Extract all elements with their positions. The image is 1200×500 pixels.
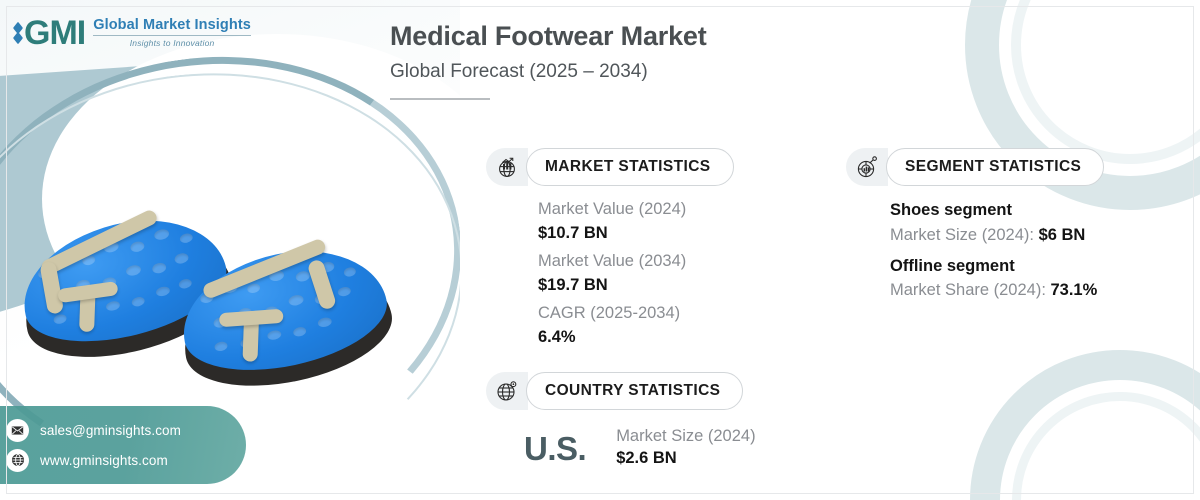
- contact-email[interactable]: sales@gminsights.com: [40, 423, 181, 438]
- country-metric-label: Market Size (2024): [616, 426, 755, 447]
- segment-metric: Market Size (2024): $6 BN: [890, 223, 1104, 248]
- country-metric-value: $2.6 BN: [616, 447, 755, 469]
- market-statistics-heading: MARKET STATISTICS: [545, 158, 711, 176]
- segment-statistics-rows: Shoes segment Market Size (2024): $6 BN …: [846, 198, 1104, 303]
- segment-statistics-label-pill: SEGMENT STATISTICS: [886, 148, 1104, 186]
- brand-name-block: Global Market Insights Insights to Innov…: [93, 18, 251, 49]
- brand-logo[interactable]: GMI Global Market Insights Insights to I…: [14, 16, 251, 50]
- segment-title: Shoes segment: [890, 198, 1104, 223]
- pie-chart-target-icon: [846, 148, 888, 186]
- stat-label: CAGR (2025-2034): [538, 302, 734, 326]
- product-photo-sandals: [8, 150, 438, 430]
- infographic-canvas: GMI Global Market Insights Insights to I…: [0, 0, 1200, 500]
- market-statistics-header: MARKET STATISTICS: [486, 148, 734, 186]
- logo-gmi-text: GMI: [24, 16, 85, 50]
- stat-value: 6.4%: [538, 326, 734, 348]
- brand-tagline: Insights to Innovation: [93, 38, 251, 48]
- stat-value: $10.7 BN: [538, 222, 734, 244]
- segment-metric-label: Market Size (2024):: [890, 226, 1039, 244]
- contact-footer: sales@gminsights.com www.gminsights.com: [0, 406, 246, 484]
- brand-name: Global Market Insights: [93, 18, 251, 34]
- market-statistics-section: MARKET STATISTICS Market Value (2024) $1…: [486, 148, 734, 355]
- country-statistics-heading: COUNTRY STATISTICS: [545, 382, 720, 400]
- market-statistics-rows: Market Value (2024) $10.7 BN Market Valu…: [486, 198, 734, 349]
- country-statistics-header: COUNTRY STATISTICS: [486, 372, 756, 410]
- logo-divider: [93, 35, 251, 36]
- country-statistics-label-pill: COUNTRY STATISTICS: [526, 372, 743, 410]
- page-subtitle: Global Forecast (2025 – 2034): [390, 60, 707, 84]
- decorative-arcs-bottom-right: [970, 350, 1200, 500]
- segment-title: Offline segment: [890, 254, 1104, 279]
- segment-metric-value: $6 BN: [1039, 226, 1086, 244]
- globe-pin-icon: [486, 372, 528, 410]
- title-block: Medical Footwear Market Global Forecast …: [390, 20, 707, 100]
- country-statistics-body: U.S. Market Size (2024) $2.6 BN: [486, 426, 756, 470]
- stat-label: Market Value (2024): [538, 198, 734, 222]
- logo-diamond-icon: [14, 24, 22, 42]
- page-title: Medical Footwear Market: [390, 20, 707, 54]
- segment-metric-value: 73.1%: [1051, 281, 1098, 299]
- stat-label: Market Value (2034): [538, 250, 734, 274]
- stat-row: CAGR (2025-2034) 6.4%: [538, 302, 734, 348]
- segment-statistics-header: SEGMENT STATISTICS: [846, 148, 1104, 186]
- market-statistics-label-pill: MARKET STATISTICS: [526, 148, 734, 186]
- envelope-icon: [6, 419, 29, 442]
- segment-metric: Market Share (2024): 73.1%: [890, 278, 1104, 303]
- segment-statistics-heading: SEGMENT STATISTICS: [905, 158, 1081, 176]
- title-divider: [390, 98, 490, 100]
- stat-row: Market Value (2024) $10.7 BN: [538, 198, 734, 244]
- contact-email-row[interactable]: sales@gminsights.com: [6, 419, 246, 442]
- segment-item: Offline segment Market Share (2024): 73.…: [890, 254, 1104, 304]
- globe-chart-icon: [486, 148, 528, 186]
- segment-item: Shoes segment Market Size (2024): $6 BN: [890, 198, 1104, 248]
- country-metric: Market Size (2024) $2.6 BN: [616, 426, 755, 470]
- gmi-logo-mark: GMI: [14, 16, 85, 50]
- country-statistics-section: COUNTRY STATISTICS U.S. Market Size (202…: [486, 372, 756, 470]
- contact-website[interactable]: www.gminsights.com: [40, 453, 168, 468]
- segment-statistics-section: SEGMENT STATISTICS Shoes segment Market …: [846, 148, 1104, 309]
- stat-value: $19.7 BN: [538, 274, 734, 296]
- contact-website-row[interactable]: www.gminsights.com: [6, 449, 246, 472]
- stat-row: Market Value (2034) $19.7 BN: [538, 250, 734, 296]
- globe-icon: [6, 449, 29, 472]
- segment-metric-label: Market Share (2024):: [890, 281, 1051, 299]
- country-name: U.S.: [524, 426, 586, 465]
